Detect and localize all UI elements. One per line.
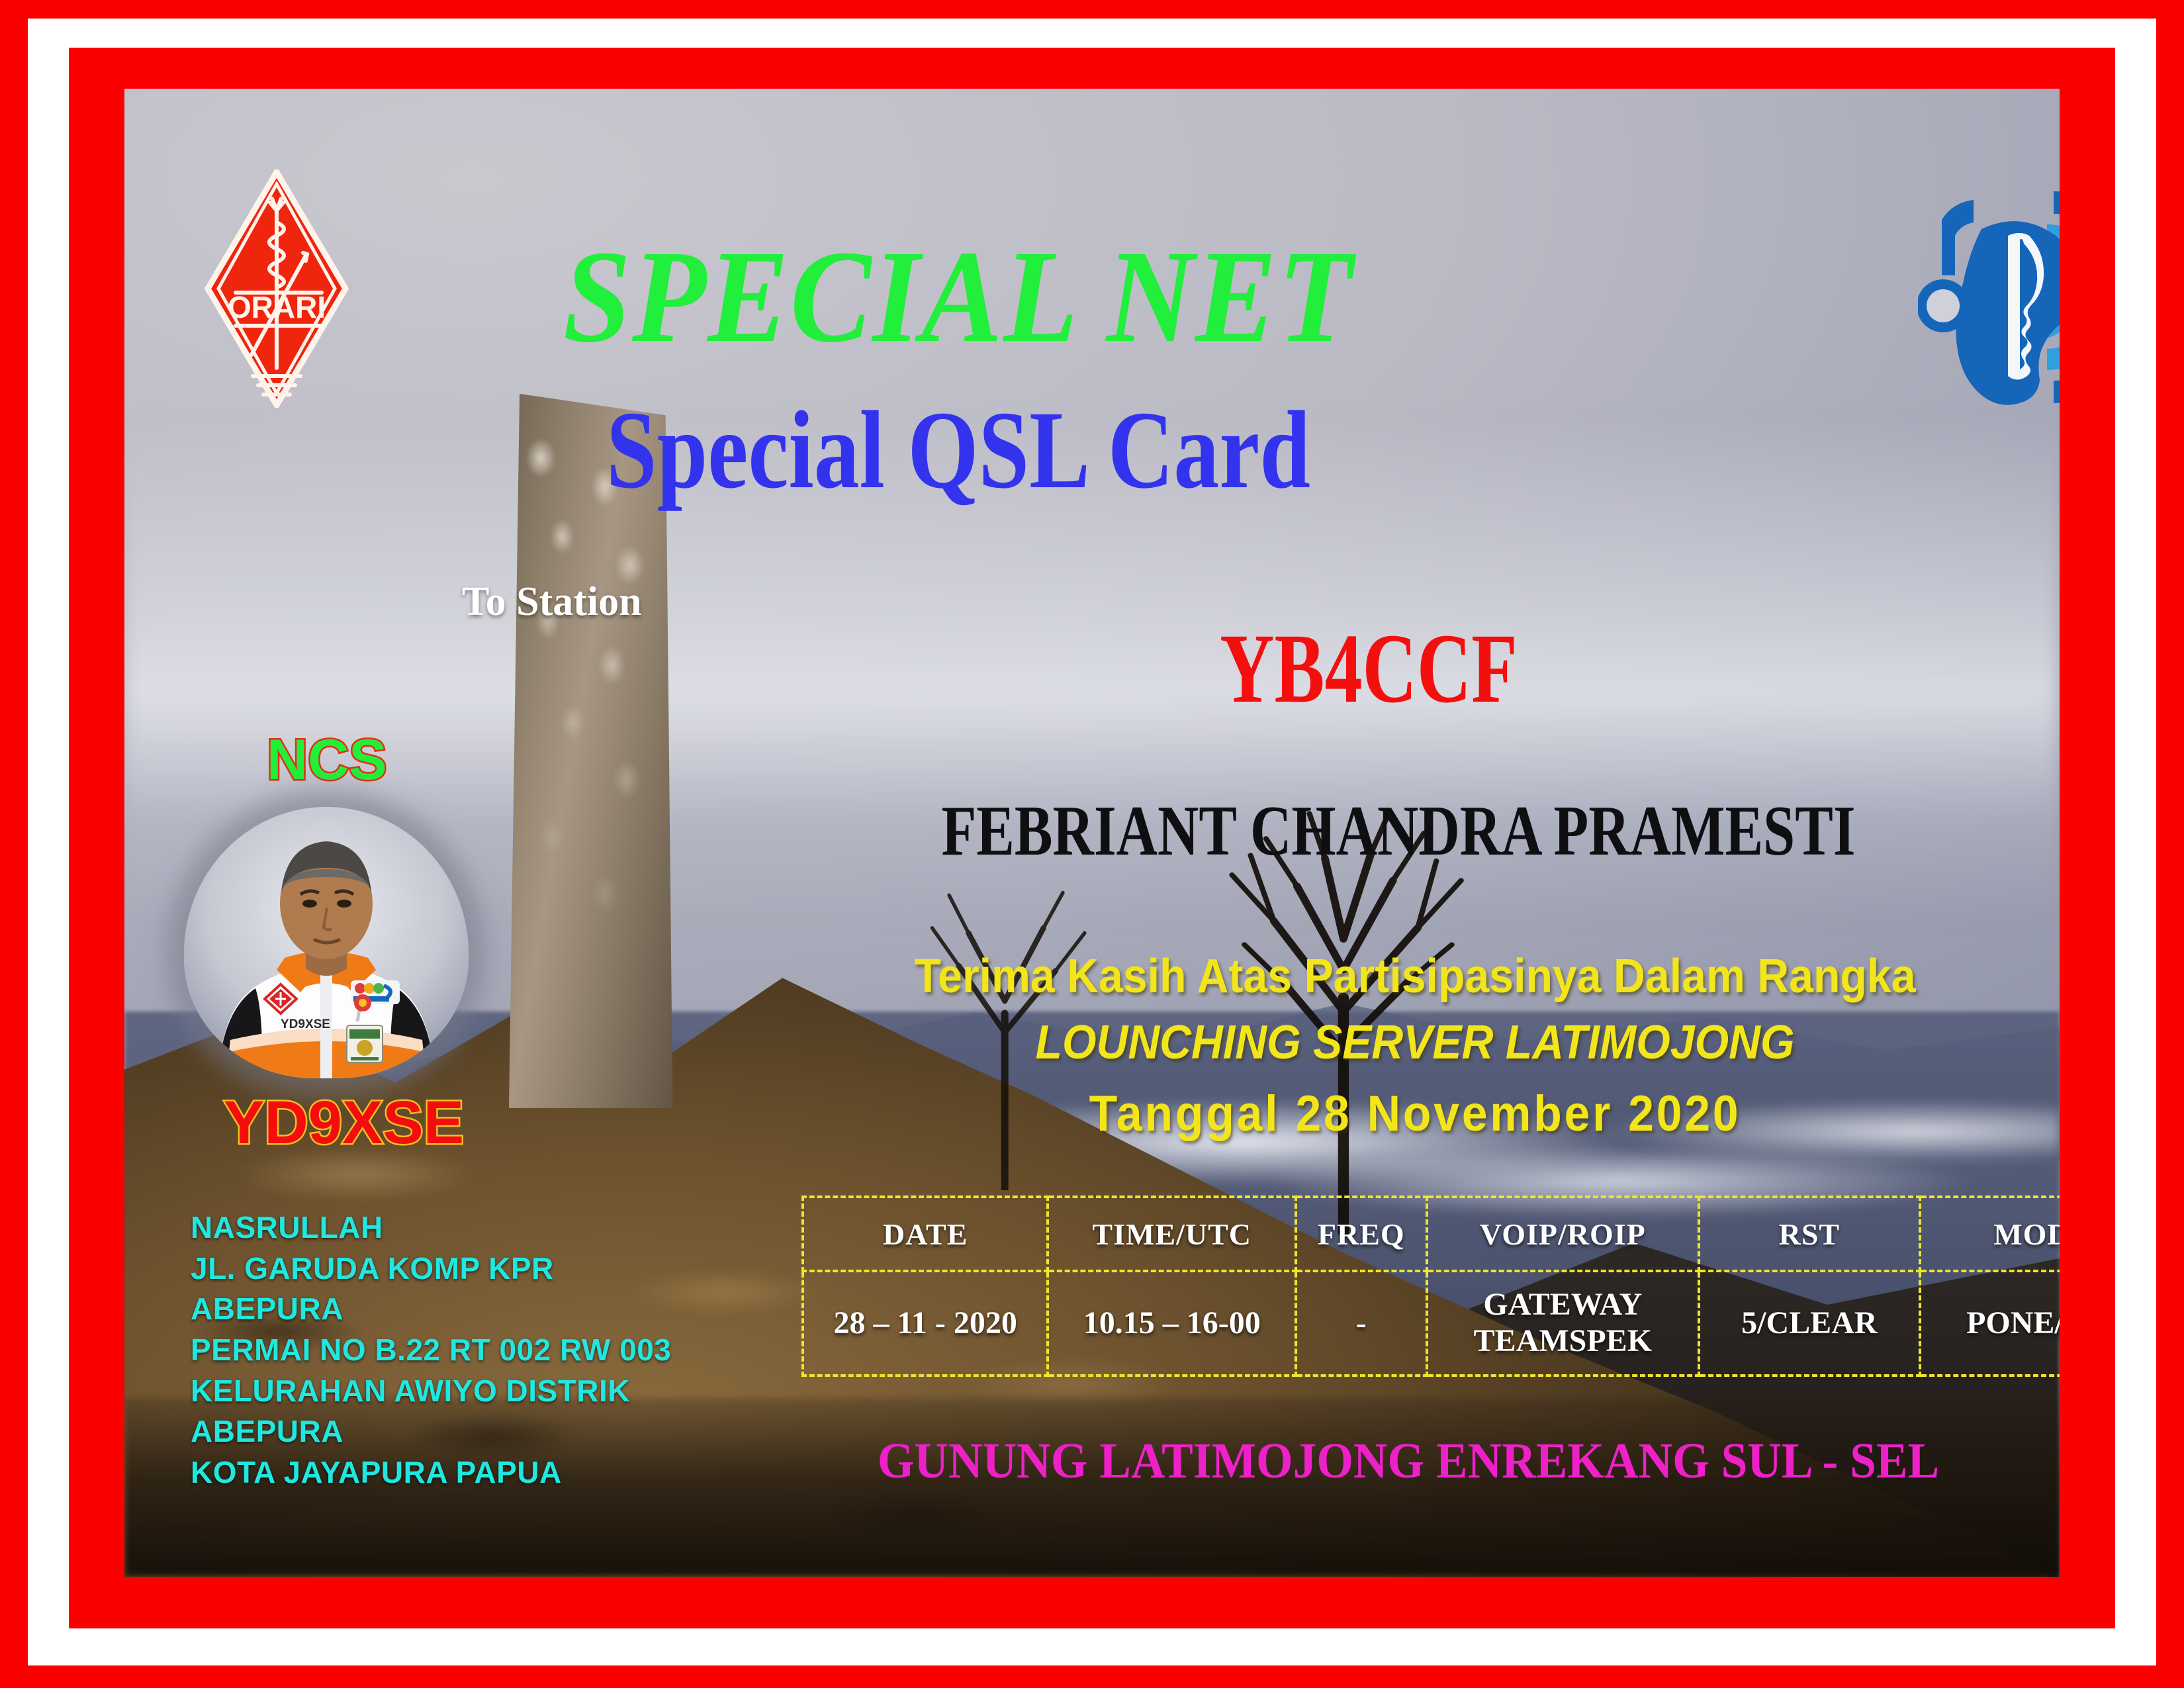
card-photo-background: ORARI SPECIAL NET Special QSL Card xyxy=(124,89,2060,1577)
ncs-callsign: YD9XSE xyxy=(224,1088,464,1158)
table-cell-voip-line1: GATEWAY xyxy=(1428,1287,1698,1323)
station-address-block: NASRULLAH JL. GARUDA KOMP KPR ABEPURA PE… xyxy=(191,1207,773,1493)
address-line: KOTA JAYAPURA PAPUA xyxy=(191,1452,773,1493)
recipient-operator-name: FEBRIANT CHANDRA PRAMESTI xyxy=(856,790,1941,872)
ncs-label: NCS xyxy=(267,727,387,793)
table-cell-voip-line2: TEAMSPEK xyxy=(1428,1323,1698,1360)
table-cell-date: 28 – 11 - 2020 xyxy=(803,1271,1048,1376)
thanks-line-3: Tanggal 28 November 2020 xyxy=(776,1085,2054,1143)
address-line: JL. GARUDA KOMP KPR xyxy=(191,1248,773,1289)
table-header-mode: MODE xyxy=(1920,1197,2060,1271)
page-title: SPECIAL NET xyxy=(191,221,1725,373)
address-line: NASRULLAH xyxy=(191,1207,773,1248)
table-header-date: DATE xyxy=(803,1197,1048,1271)
table-cell-mode: PONE/CW xyxy=(1920,1271,2060,1376)
event-location-line: GUNUNG LATIMOJONG ENREKANG SUL - SEL xyxy=(799,1432,2018,1490)
uniform-callsign-text: YD9XSE xyxy=(281,1017,330,1031)
table-header-rst: RST xyxy=(1699,1197,1919,1271)
qsl-card-frame: ORARI SPECIAL NET Special QSL Card xyxy=(0,0,2184,1688)
address-line: ABEPURA xyxy=(191,1289,773,1330)
frame-inner-red-border: ORARI SPECIAL NET Special QSL Card xyxy=(69,48,2115,1628)
address-line: KELURAHAN AWIYO DISTRIK xyxy=(191,1371,773,1412)
table-header-freq: FREQ xyxy=(1296,1197,1427,1271)
qso-details-table: DATE TIME/UTC FREQ VOIP/ROIP RST MODE 28… xyxy=(801,1196,2060,1377)
table-cell-freq: - xyxy=(1296,1271,1427,1376)
thanks-line-2: LOUNCHING SERVER LATIMOJONG xyxy=(776,1015,2054,1070)
page-subtitle: Special QSL Card xyxy=(275,387,1642,514)
table-header-row: DATE TIME/UTC FREQ VOIP/ROIP RST MODE xyxy=(803,1197,2060,1271)
to-station-label: To Station xyxy=(462,579,642,626)
table-header-time: TIME/UTC xyxy=(1048,1197,1296,1271)
table-cell-rst: 5/CLEAR xyxy=(1699,1271,1919,1376)
recipient-callsign: YB4CCF xyxy=(1017,612,1721,726)
voip-headphone-face-logo xyxy=(1918,188,2060,406)
table-row: 28 – 11 - 2020 10.15 – 16-00 - GATEWAY T… xyxy=(803,1271,2060,1376)
table-cell-time: 10.15 – 16-00 xyxy=(1048,1271,1296,1376)
address-line: ABEPURA xyxy=(191,1411,773,1452)
address-line: PERMAI NO B.22 RT 002 RW 003 xyxy=(191,1330,773,1371)
thanks-line-1: Terima Kasih Atas Partisipasinya Dalam R… xyxy=(776,949,2054,1004)
table-header-voip: VOIP/ROIP xyxy=(1427,1197,1700,1271)
table-cell-voip: GATEWAY TEAMSPEK xyxy=(1427,1271,1700,1376)
frame-white-gap: ORARI SPECIAL NET Special QSL Card xyxy=(28,19,2156,1665)
